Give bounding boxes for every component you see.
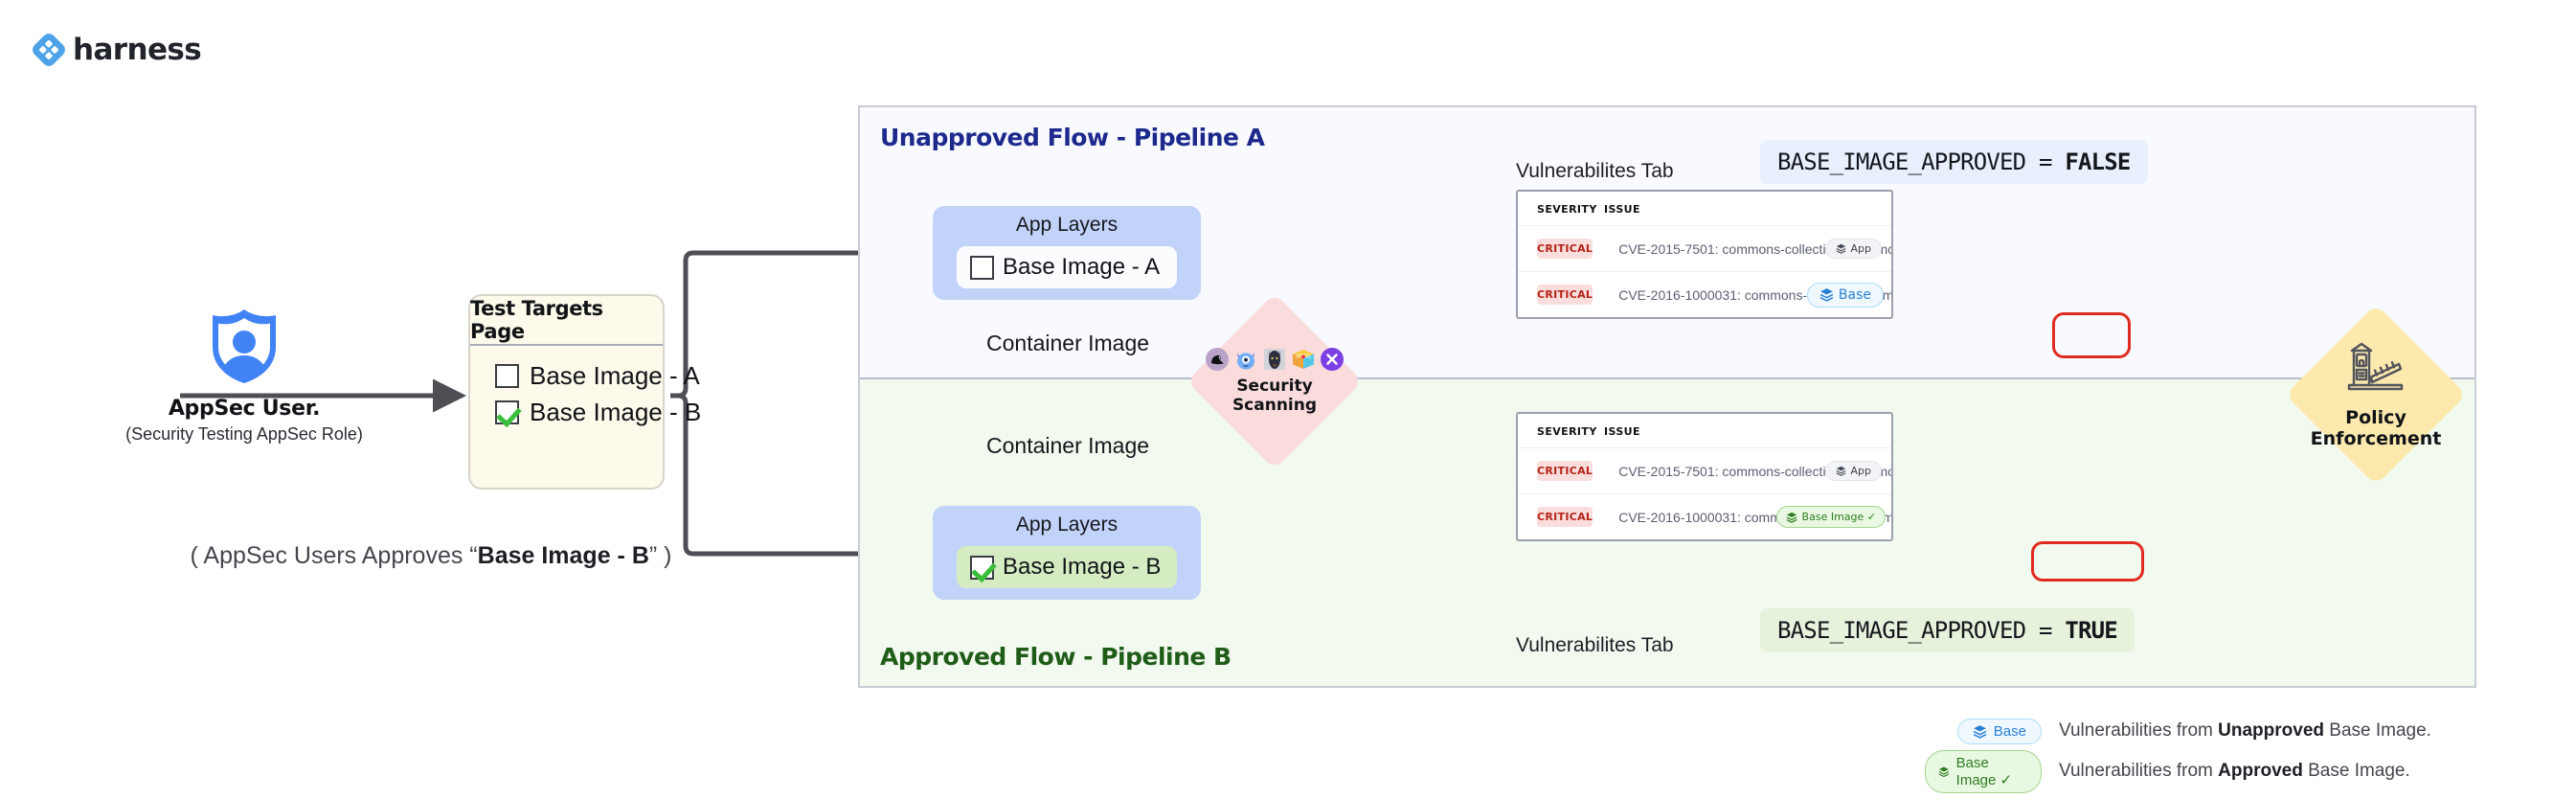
layers-icon [1938, 765, 1950, 779]
security-gate-barrier-icon [2344, 340, 2407, 399]
legend-row-approved: Base Image ✓ Vulnerabilities from Approv… [1925, 751, 2431, 791]
policy-enforcement-label-2: Enforcement [2311, 429, 2442, 450]
x-circle-icon [1320, 347, 1344, 372]
anchore-cube-icon [1291, 347, 1316, 372]
checkbox-unchecked-icon[interactable] [495, 364, 519, 388]
variable-operator: = [2039, 617, 2052, 644]
base-image-label: Base Image - B [1003, 554, 1161, 581]
list-item-label: Base Image - A [530, 361, 700, 391]
base-image-approved-badge[interactable]: Base Image ✓ [1776, 506, 1886, 528]
base-image-approved-true-chip: BASE_IMAGE_APPROVED = TRUE [1760, 608, 2135, 652]
policy-enforcement-content: Policy Enforcement [2285, 304, 2467, 486]
base-source-badge: Base [1957, 719, 2042, 744]
column-header-severity: SEVERITY [1518, 203, 1604, 216]
base-image-approved-false-chip: BASE_IMAGE_APPROVED = FALSE [1760, 140, 2148, 184]
layers-icon [1836, 466, 1846, 476]
brand-name: harness [73, 33, 201, 67]
checkbox-checked-icon[interactable] [970, 556, 994, 580]
badge-label: Base Image ✓ [1802, 511, 1876, 523]
appsec-user-block: AppSec User. (Security Testing AppSec Ro… [105, 307, 383, 445]
container-image-caption-b: Container Image [986, 433, 1149, 459]
legend-text-bold: Approved [2218, 761, 2303, 781]
table-row[interactable]: CRITICAL CVE-2016-1000031: commons-fileu… [1518, 493, 1891, 539]
base-image-approved-badge: Base Image ✓ [1925, 750, 2042, 793]
test-targets-list: Base Image - A Base Image - B [470, 346, 663, 427]
badge-label: App [1851, 242, 1872, 255]
approval-note: ( AppSec Users Approves “Base Image - B”… [144, 542, 718, 570]
appsec-user-title: AppSec User. [105, 397, 383, 421]
layers-icon [1786, 512, 1797, 523]
diagram-canvas: harness [0, 0, 2576, 799]
policy-enforcement-label-1: Policy [2345, 408, 2407, 429]
approval-note-suffix: ” ) [649, 542, 672, 569]
app-layers-box-b: App Layers Base Image - B [933, 506, 1201, 600]
monster-scanner-icon [1233, 347, 1258, 372]
list-item[interactable]: Base Image - A [495, 361, 663, 391]
table-header-row: SEVERITY ISSUE [1518, 414, 1891, 447]
legend-badge-wrap: Base [1925, 719, 2059, 744]
test-targets-header: Test Targets Page [470, 296, 663, 346]
approved-flow-title: Approved Flow - Pipeline B [880, 643, 1232, 671]
column-header-issue: ISSUE [1604, 203, 1891, 216]
layers-icon [1819, 287, 1834, 302]
legend-row-unapproved: Base Vulnerabilities from Unapproved Bas… [1925, 711, 2431, 751]
approval-note-bold: Base Image - B [478, 542, 649, 569]
app-layers-label: App Layers [933, 514, 1201, 536]
legend: Base Vulnerabilities from Unapproved Bas… [1925, 711, 2431, 791]
table-header-row: SEVERITY ISSUE [1518, 192, 1891, 225]
legend-text-prefix: Vulnerabilities from [2059, 720, 2218, 741]
test-targets-title: Test Targets Page [470, 297, 663, 343]
vulnerabilities-tab-label-b: Vulnerabilites Tab [1516, 634, 1674, 657]
doberman-icon [1262, 347, 1287, 372]
list-item[interactable]: Base Image - B [495, 398, 663, 427]
table-row[interactable]: CRITICAL CVE-2015-7501: commons-collecti… [1518, 447, 1891, 493]
variable-value: TRUE [2065, 617, 2117, 644]
security-scanning-label-1: Security [1236, 377, 1312, 397]
unapproved-flow-title: Unapproved Flow - Pipeline A [880, 124, 1265, 151]
legend-badge-wrap: Base Image ✓ [1925, 750, 2059, 793]
approval-note-prefix: ( AppSec Users Approves “ [191, 542, 478, 569]
layers-icon [1973, 724, 1987, 739]
security-scanning-content: Security Scanning [1169, 333, 1380, 429]
badge-label: Base [1994, 723, 2026, 740]
test-targets-card[interactable]: Test Targets Page Base Image - A Base Im… [468, 294, 665, 490]
base-source-badge[interactable]: Base [1807, 283, 1884, 308]
status-badge: CRITICAL [1537, 239, 1593, 259]
status-badge: CRITICAL [1537, 461, 1593, 481]
layers-icon [1836, 243, 1846, 254]
vulnerabilities-table-a: SEVERITY ISSUE CRITICAL CVE-2015-7501: c… [1516, 190, 1893, 319]
list-item-label: Base Image - B [530, 398, 701, 427]
legend-text-suffix: Base Image. [2303, 761, 2410, 781]
variable-name: BASE_IMAGE_APPROVED [1777, 148, 2025, 175]
status-badge: CRITICAL [1537, 507, 1593, 527]
harness-diamond-logo-icon [33, 34, 65, 66]
app-layers-label: App Layers [933, 214, 1201, 237]
vulnerabilities-table-b: SEVERITY ISSUE CRITICAL CVE-2015-7501: c… [1516, 412, 1893, 541]
security-scanning-label-2: Scanning [1232, 397, 1317, 416]
column-header-issue: ISSUE [1604, 425, 1891, 438]
table-row[interactable]: CRITICAL CVE-2015-7501: commons-collecti… [1518, 225, 1891, 271]
variable-operator: = [2039, 148, 2052, 175]
base-image-box-b[interactable]: Base Image - B [957, 546, 1177, 588]
legend-text-prefix: Vulnerabilities from [2059, 761, 2218, 781]
app-layers-box-a: App Layers Base Image - A [933, 206, 1201, 300]
app-source-badge[interactable]: App [1825, 239, 1883, 259]
status-badge: CRITICAL [1537, 285, 1593, 305]
base-image-box-a[interactable]: Base Image - A [957, 246, 1177, 288]
checkbox-checked-icon[interactable] [495, 400, 519, 424]
checkbox-unchecked-icon[interactable] [970, 256, 994, 280]
app-source-badge[interactable]: App [1825, 461, 1883, 481]
vulnerabilities-tab-label-a: Vulnerabilites Tab [1516, 160, 1674, 183]
harness-logo: harness [33, 33, 201, 67]
base-image-label: Base Image - A [1003, 254, 1160, 281]
scanner-tool-icons [1205, 347, 1344, 372]
badge-label: Base Image ✓ [1956, 755, 2028, 788]
policy-enforcement-node: Policy Enforcement [2285, 304, 2467, 486]
variable-name: BASE_IMAGE_APPROVED [1777, 617, 2025, 644]
container-image-caption-a: Container Image [986, 331, 1149, 356]
legend-text-suffix: Base Image. [2324, 720, 2431, 741]
legend-text: Vulnerabilities from Unapproved Base Ima… [2059, 720, 2431, 742]
black-duck-icon [1205, 347, 1230, 372]
badge-label: Base [1839, 287, 1871, 303]
legend-text-bold: Unapproved [2218, 720, 2324, 741]
variable-value: FALSE [2065, 148, 2130, 175]
badge-label: App [1851, 465, 1872, 477]
legend-text: Vulnerabilities from Approved Base Image… [2059, 761, 2410, 782]
shield-user-icon [209, 307, 280, 385]
appsec-user-subtitle: (Security Testing AppSec Role) [105, 424, 383, 445]
column-header-severity: SEVERITY [1518, 425, 1604, 438]
table-row[interactable]: CRITICAL CVE-2016-1000031: commons-fileu… [1518, 271, 1891, 317]
security-scanning-node: Security Scanning [1227, 333, 1322, 429]
